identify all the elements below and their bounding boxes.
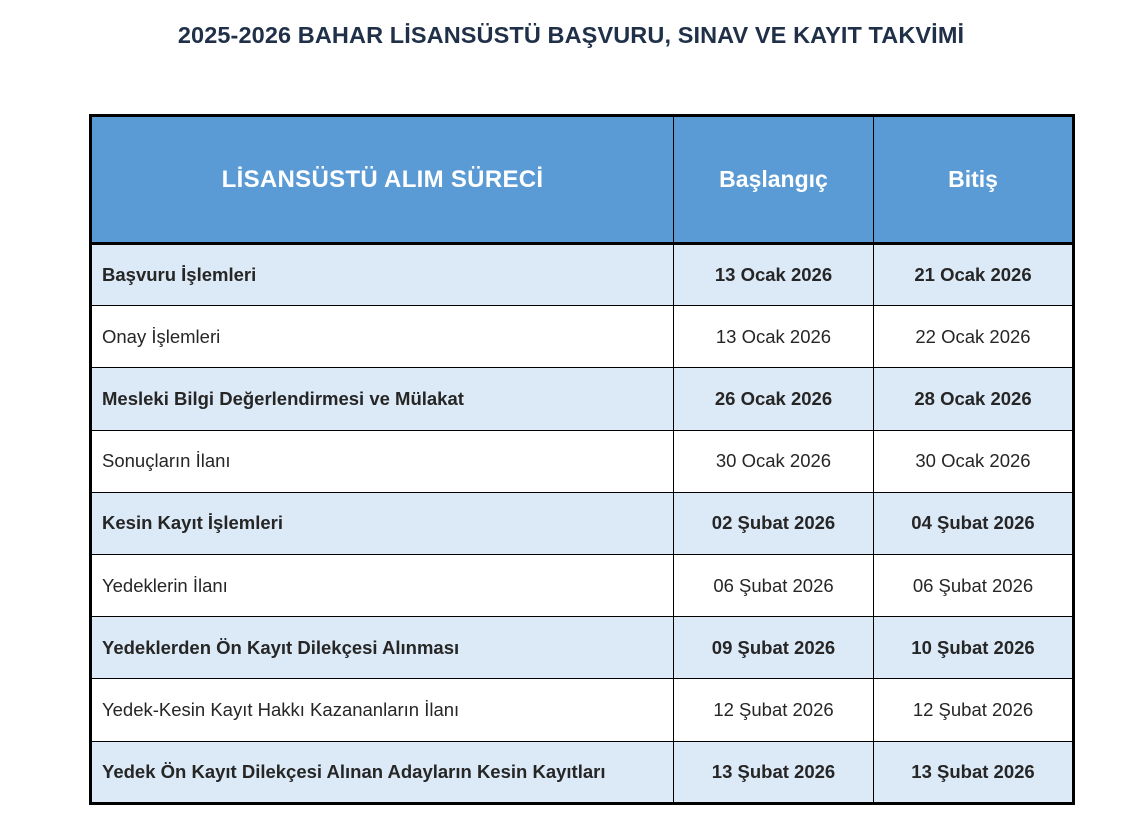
cell-end-date: 21 Ocak 2026 xyxy=(874,244,1074,306)
table-header-row: LİSANSÜSTÜ ALIM SÜRECİ Başlangıç Bitiş xyxy=(91,116,1074,244)
cell-start-date: 12 Şubat 2026 xyxy=(674,679,874,741)
page-title: 2025-2026 BAHAR LİSANSÜSTÜ BAŞVURU, SINA… xyxy=(0,22,1142,49)
table-body: Başvuru İşlemleri13 Ocak 202621 Ocak 202… xyxy=(91,244,1074,804)
admissions-calendar-table: LİSANSÜSTÜ ALIM SÜRECİ Başlangıç Bitiş B… xyxy=(89,114,1075,805)
cell-process: Yedeklerden Ön Kayıt Dilekçesi Alınması xyxy=(91,617,674,679)
cell-start-date: 09 Şubat 2026 xyxy=(674,617,874,679)
cell-end-date: 10 Şubat 2026 xyxy=(874,617,1074,679)
column-header-start: Başlangıç xyxy=(674,116,874,244)
cell-process: Kesin Kayıt İşlemleri xyxy=(91,492,674,554)
table-row: Yedek Ön Kayıt Dilekçesi Alınan Adayları… xyxy=(91,741,1074,803)
cell-end-date: 28 Ocak 2026 xyxy=(874,368,1074,430)
cell-end-date: 13 Şubat 2026 xyxy=(874,741,1074,803)
table-row: Mesleki Bilgi Değerlendirmesi ve Mülakat… xyxy=(91,368,1074,430)
column-header-end: Bitiş xyxy=(874,116,1074,244)
cell-start-date: 30 Ocak 2026 xyxy=(674,430,874,492)
cell-end-date: 30 Ocak 2026 xyxy=(874,430,1074,492)
cell-start-date: 06 Şubat 2026 xyxy=(674,554,874,616)
cell-start-date: 13 Ocak 2026 xyxy=(674,306,874,368)
document-page: 2025-2026 BAHAR LİSANSÜSTÜ BAŞVURU, SINA… xyxy=(0,0,1142,831)
table-row: Başvuru İşlemleri13 Ocak 202621 Ocak 202… xyxy=(91,244,1074,306)
table-row: Kesin Kayıt İşlemleri02 Şubat 202604 Şub… xyxy=(91,492,1074,554)
cell-start-date: 02 Şubat 2026 xyxy=(674,492,874,554)
table-row: Onay İşlemleri13 Ocak 202622 Ocak 2026 xyxy=(91,306,1074,368)
cell-process: Yedek-Kesin Kayıt Hakkı Kazananların İla… xyxy=(91,679,674,741)
table-row: Yedeklerin İlanı06 Şubat 202606 Şubat 20… xyxy=(91,554,1074,616)
cell-start-date: 26 Ocak 2026 xyxy=(674,368,874,430)
table-row: Yedek-Kesin Kayıt Hakkı Kazananların İla… xyxy=(91,679,1074,741)
table-header: LİSANSÜSTÜ ALIM SÜRECİ Başlangıç Bitiş xyxy=(91,116,1074,244)
cell-process: Sonuçların İlanı xyxy=(91,430,674,492)
cell-end-date: 12 Şubat 2026 xyxy=(874,679,1074,741)
column-header-process: LİSANSÜSTÜ ALIM SÜRECİ xyxy=(91,116,674,244)
table-row: Yedeklerden Ön Kayıt Dilekçesi Alınması0… xyxy=(91,617,1074,679)
cell-process: Onay İşlemleri xyxy=(91,306,674,368)
cell-start-date: 13 Şubat 2026 xyxy=(674,741,874,803)
calendar-table-container: LİSANSÜSTÜ ALIM SÜRECİ Başlangıç Bitiş B… xyxy=(89,114,1072,805)
table-row: Sonuçların İlanı30 Ocak 202630 Ocak 2026 xyxy=(91,430,1074,492)
cell-start-date: 13 Ocak 2026 xyxy=(674,244,874,306)
cell-process: Mesleki Bilgi Değerlendirmesi ve Mülakat xyxy=(91,368,674,430)
cell-process: Yedek Ön Kayıt Dilekçesi Alınan Adayları… xyxy=(91,741,674,803)
cell-end-date: 04 Şubat 2026 xyxy=(874,492,1074,554)
cell-end-date: 06 Şubat 2026 xyxy=(874,554,1074,616)
cell-process: Başvuru İşlemleri xyxy=(91,244,674,306)
cell-end-date: 22 Ocak 2026 xyxy=(874,306,1074,368)
cell-process: Yedeklerin İlanı xyxy=(91,554,674,616)
